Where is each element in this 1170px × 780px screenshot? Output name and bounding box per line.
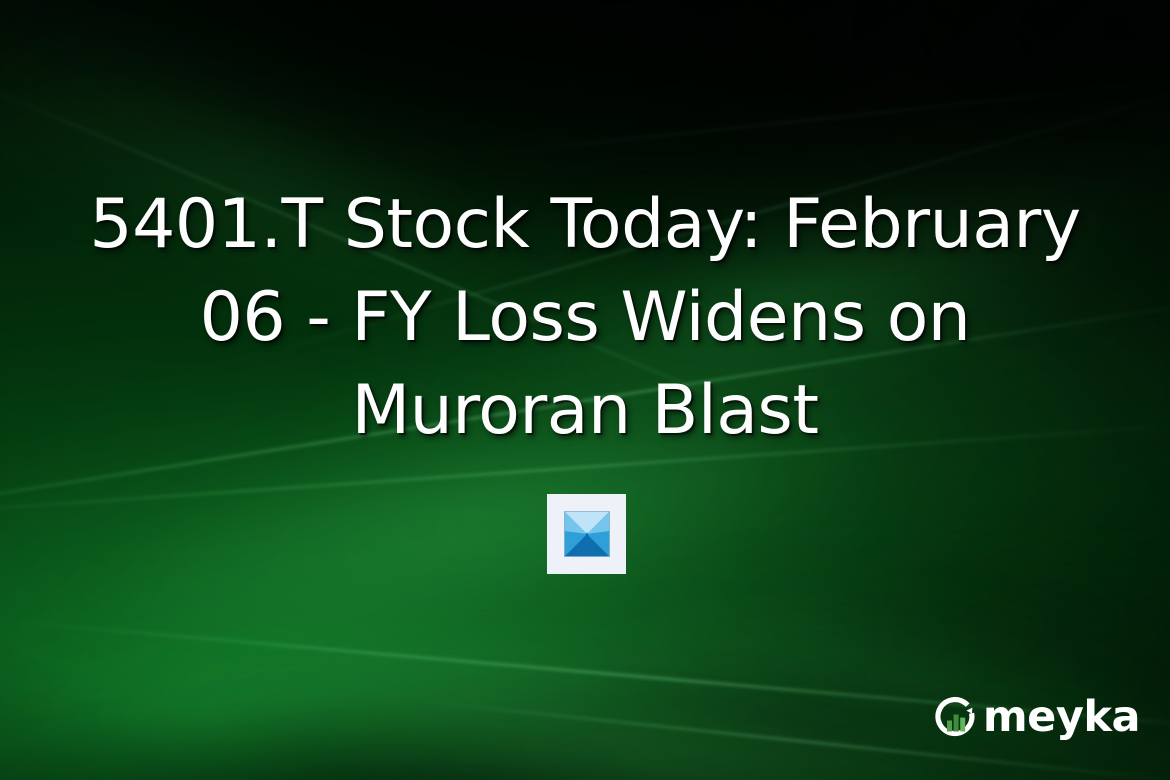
broken-image-icon: [564, 511, 610, 557]
broken-image-placeholder: [547, 494, 626, 574]
social-share-card: 5401.T Stock Today: February 06 - FY Los…: [0, 0, 1170, 780]
card-content: 5401.T Stock Today: February 06 - FY Los…: [0, 0, 1170, 780]
brand-name: meyka: [983, 696, 1140, 742]
meyka-ring-bar-chart-icon: [933, 696, 979, 742]
brand-logo: meyka: [933, 696, 1140, 742]
page-title: 5401.T Stock Today: February 06 - FY Los…: [50, 178, 1120, 457]
